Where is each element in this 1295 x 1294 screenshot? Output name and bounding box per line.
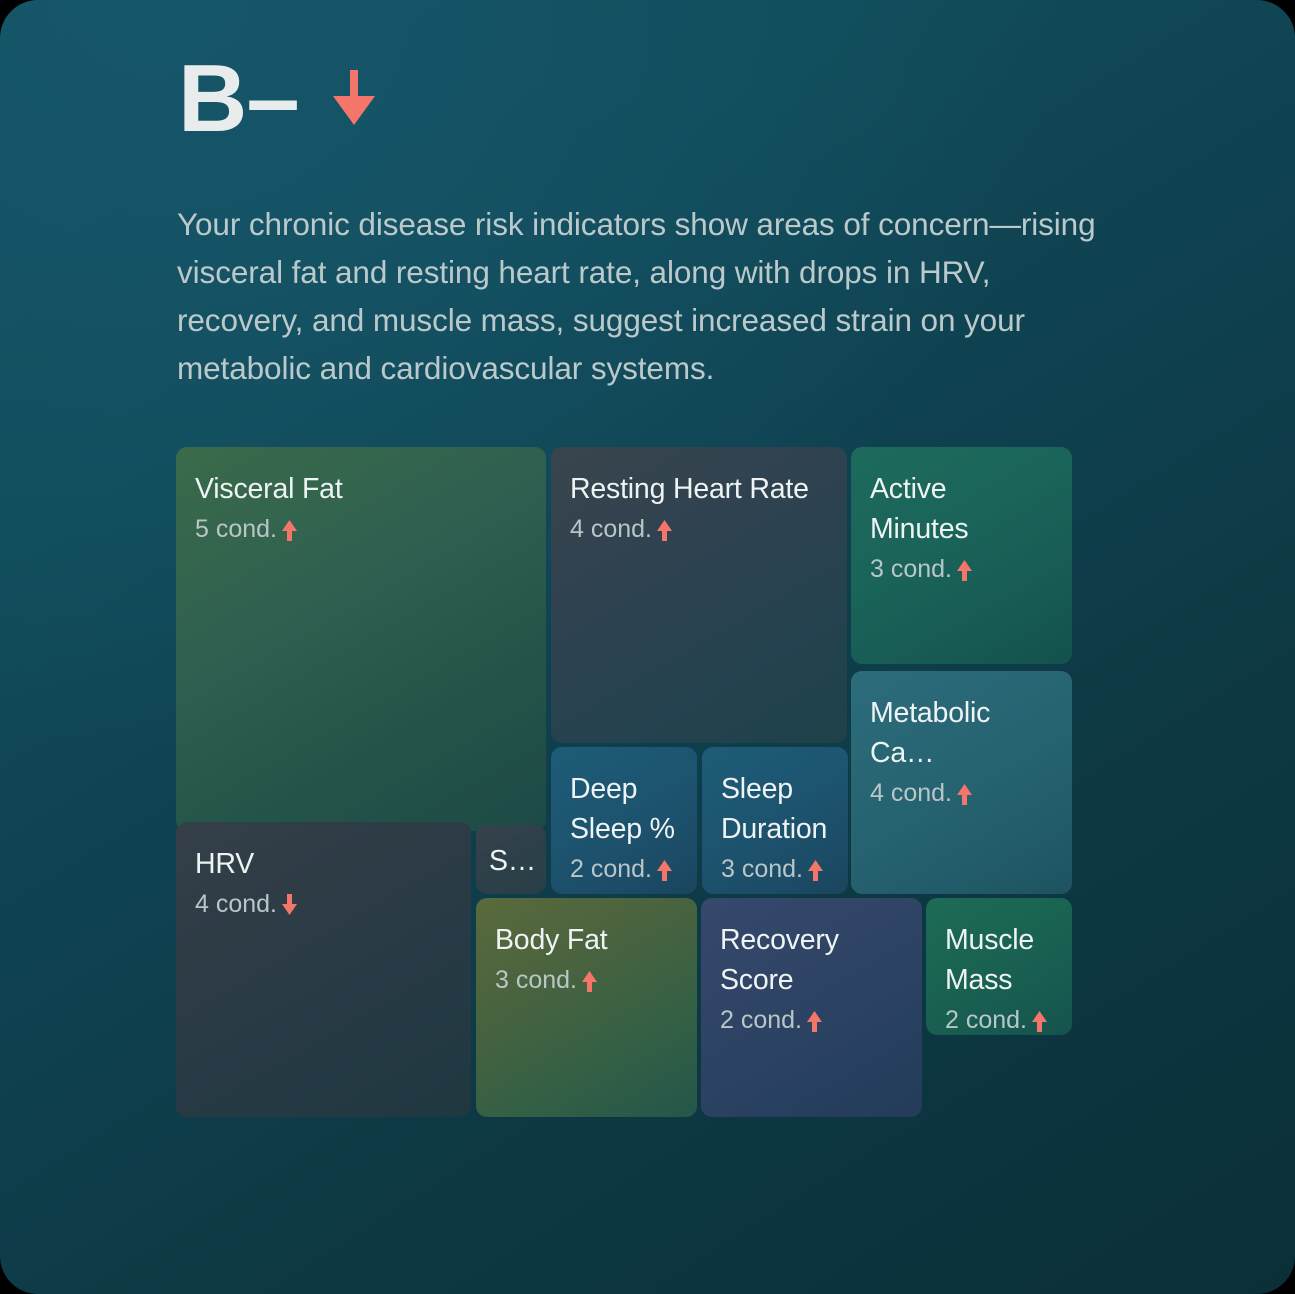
tile-condition-text: 4 cond. xyxy=(870,776,952,810)
arrow-up-icon xyxy=(1030,1009,1049,1033)
tile-label: HRV xyxy=(195,844,451,884)
arrow-up-icon xyxy=(580,969,599,993)
tile-condition-text: 3 cond. xyxy=(495,963,577,997)
treemap-tile[interactable]: Active Minutes3 cond. xyxy=(851,447,1072,664)
tile-label: Metabolic Ca… xyxy=(870,693,1052,773)
treemap-tile[interactable]: Deep Sleep %2 cond. xyxy=(551,747,697,894)
tile-condition-count: 5 cond. xyxy=(195,512,526,546)
arrow-up-icon xyxy=(655,518,674,542)
tile-condition-text: 5 cond. xyxy=(195,512,277,546)
tile-condition-count: 3 cond. xyxy=(721,852,828,886)
tile-label: Resting Heart Rate xyxy=(570,469,827,509)
tile-condition-count: 3 cond. xyxy=(870,552,1052,586)
tile-condition-text: 2 cond. xyxy=(945,1003,1027,1035)
tile-label: Body Fat xyxy=(495,920,677,960)
tile-label: Visceral Fat xyxy=(195,469,526,509)
arrow-up-icon xyxy=(955,782,974,806)
tile-condition-text: 2 cond. xyxy=(720,1003,802,1037)
tile-condition-count: 3 cond. xyxy=(495,963,677,997)
tile-condition-count: 2 cond. xyxy=(720,1003,902,1037)
treemap-tile[interactable]: Muscle Mass2 cond. xyxy=(926,898,1072,1035)
treemap-tile[interactable]: Resting Heart Rate4 cond. xyxy=(551,447,847,743)
arrow-up-icon xyxy=(280,518,299,542)
summary-text: Your chronic disease risk indicators sho… xyxy=(177,200,1112,392)
tile-condition-text: 2 cond. xyxy=(570,852,652,886)
treemap-tile[interactable]: Metabolic Ca…4 cond. xyxy=(851,671,1072,894)
tile-condition-count: 4 cond. xyxy=(570,512,827,546)
treemap-tile[interactable]: Sleep Duration3 cond. xyxy=(702,747,848,894)
arrow-up-icon xyxy=(955,558,974,582)
treemap-tile[interactable]: Body Fat3 cond. xyxy=(476,898,697,1117)
treemap-tile[interactable]: Recovery Score2 cond. xyxy=(701,898,922,1117)
tile-condition-count: 4 cond. xyxy=(870,776,1052,810)
tile-condition-count: 4 cond. xyxy=(195,887,451,921)
grade-header: B– xyxy=(178,44,1128,164)
tile-condition-text: 4 cond. xyxy=(570,512,652,546)
health-grade-card: B– Your chronic disease risk indicators … xyxy=(0,0,1295,1294)
tile-label: S… xyxy=(489,841,536,881)
tile-label: Deep Sleep % xyxy=(570,769,677,849)
tile-condition-count: 2 cond. xyxy=(570,852,677,886)
treemap-tile[interactable]: HRV4 cond. xyxy=(176,822,471,1117)
arrow-down-icon xyxy=(327,68,381,130)
tile-condition-text: 3 cond. xyxy=(870,552,952,586)
treemap-tile[interactable]: Visceral Fat5 cond. xyxy=(176,447,546,831)
treemap: Visceral Fat5 cond.Resting Heart Rate4 c… xyxy=(0,0,1295,1294)
arrow-up-icon xyxy=(655,858,674,882)
tile-condition-text: 3 cond. xyxy=(721,852,803,886)
tile-label: Recovery Score xyxy=(720,920,902,1000)
tile-label: Sleep Duration xyxy=(721,769,828,849)
treemap-tile[interactable]: S… xyxy=(476,825,546,894)
arrow-up-icon xyxy=(805,1009,824,1033)
tile-label: Muscle Mass xyxy=(945,920,1052,1000)
page-title: B– xyxy=(178,51,299,147)
arrow-up-icon xyxy=(806,858,825,882)
tile-condition-count: 2 cond. xyxy=(945,1003,1052,1035)
tile-label: Active Minutes xyxy=(870,469,1052,549)
grade-row: B– xyxy=(178,44,1128,154)
arrow-down-icon xyxy=(280,893,299,917)
tile-condition-text: 4 cond. xyxy=(195,887,277,921)
